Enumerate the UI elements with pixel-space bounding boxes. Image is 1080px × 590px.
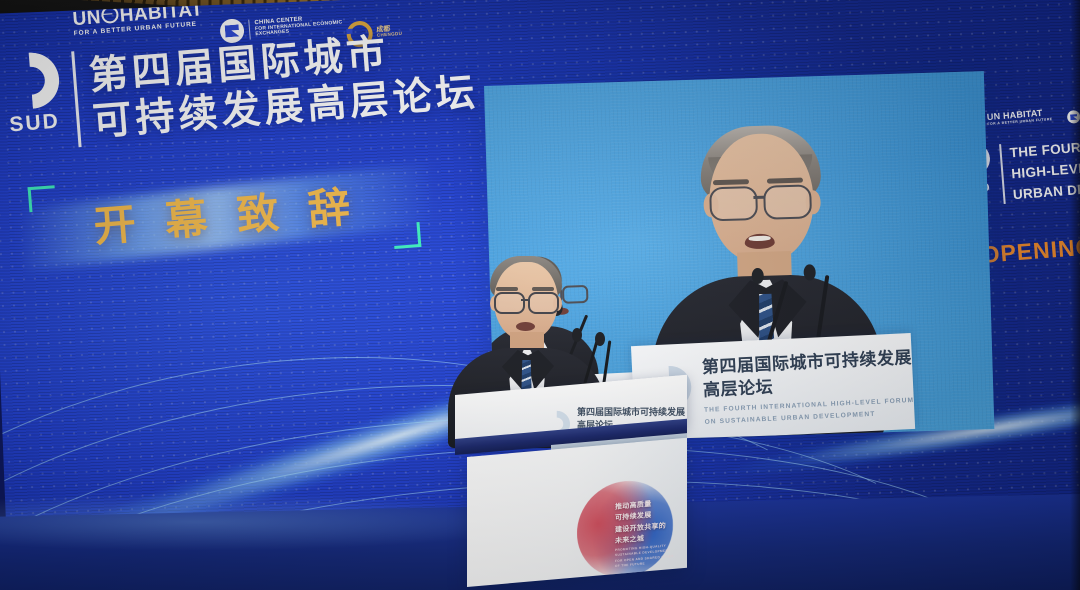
podium-slogan-en: PROMOTING HIGH-QUALITY SUSTAINABLE DEVEL… <box>615 543 674 569</box>
eyeglasses-icon <box>763 184 812 219</box>
un-habitat-text-un: UN <box>72 7 102 30</box>
podium-sign-cn: 第四届国际城市可持续发展 高层论坛 <box>702 347 914 402</box>
eyebrow <box>767 178 803 184</box>
eyebrow <box>532 287 554 291</box>
podium-slogan-cn: 推动高质量 可持续发展 建设开放共享的 未来之城 <box>615 498 666 548</box>
podium-body: 推动高质量 可持续发展 建设开放共享的 未来之城 PROMOTING HIGH-… <box>467 438 687 587</box>
eyeglass-bridge <box>521 299 528 301</box>
globe-icon <box>101 6 119 24</box>
sud-mark-icon <box>0 48 64 112</box>
right-edge-shadow <box>1070 0 1080 590</box>
eyebrow <box>496 287 518 291</box>
divider <box>248 20 251 40</box>
eyebrow <box>713 179 749 185</box>
opening-speech-text: 开 幕 致 辞 <box>19 170 435 264</box>
sud-wordmark: SUD <box>0 109 71 139</box>
opening-text-en: OPENING <box>981 233 1080 269</box>
microphone-icon <box>572 328 582 342</box>
eyeglass-bridge <box>753 196 765 199</box>
opening-speech-banner: 开 幕 致 辞 <box>18 156 436 280</box>
eyeglasses-icon <box>709 186 758 221</box>
sud-logo: SUD <box>0 48 71 138</box>
china-center-mark-icon <box>219 18 245 44</box>
conference-stage-photo: UNHABITAT FOR A BETTER URBAN FUTURE CHIN… <box>0 0 1080 590</box>
title-divider <box>71 51 81 147</box>
microphone-icon <box>595 332 605 346</box>
eyeglasses-icon <box>528 292 559 314</box>
left-title-block: UNHABITAT FOR A BETTER URBAN FUTURE CHIN… <box>0 0 478 313</box>
mouth <box>516 322 535 331</box>
speaker-podium: SUD 第四届国际城市可持续发展 高层论坛 THE FOURTH INTERNA… <box>455 395 687 590</box>
title-divider-right <box>999 144 1006 204</box>
eyeglasses-icon <box>494 292 525 314</box>
line1: 第四届国际城市可持续发展 <box>577 406 685 419</box>
